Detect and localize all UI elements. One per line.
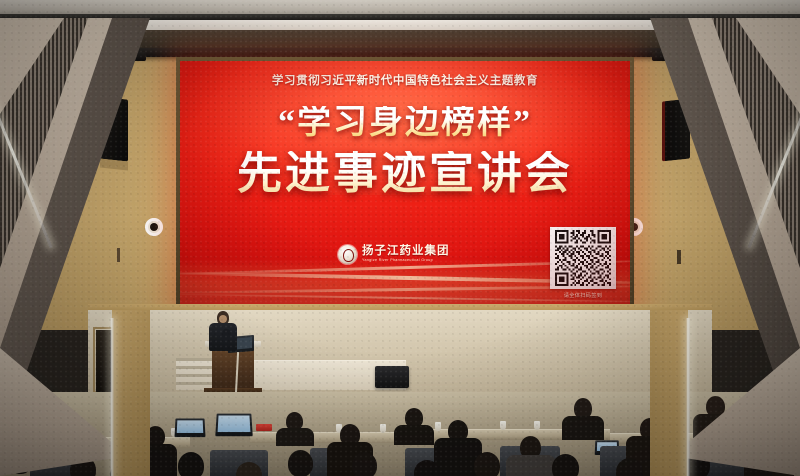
audience-shoulders bbox=[506, 455, 556, 476]
audience-shoulders bbox=[394, 425, 434, 445]
presenter bbox=[206, 311, 240, 351]
right-acoustic-wing bbox=[650, 18, 800, 476]
water-cup bbox=[500, 421, 506, 430]
audience-laptop bbox=[215, 414, 252, 437]
stage-monitor bbox=[375, 366, 409, 388]
audience-head bbox=[474, 452, 500, 476]
audience-head bbox=[552, 454, 579, 476]
audience-shoulders bbox=[276, 428, 314, 446]
water-cup bbox=[380, 424, 386, 433]
red-name-card bbox=[256, 424, 272, 431]
left-acoustic-wing bbox=[0, 18, 150, 476]
led-screen: 学习贯彻习近平新时代中国特色社会主义主题教育 “学习身边榜样” 先进事迹宣讲会 … bbox=[176, 57, 634, 309]
audience-laptop bbox=[174, 419, 205, 438]
screen-vignette bbox=[180, 61, 630, 305]
audience-head bbox=[178, 452, 204, 476]
auditorium-photo: 学习贯彻习近平新时代中国特色社会主义主题教育 “学习身边榜样” 先进事迹宣讲会 … bbox=[0, 0, 800, 476]
audience-head bbox=[288, 450, 313, 476]
audience-shoulders bbox=[562, 416, 604, 440]
audience-head bbox=[352, 452, 377, 476]
water-cup bbox=[534, 421, 540, 430]
water-cup bbox=[435, 422, 441, 431]
